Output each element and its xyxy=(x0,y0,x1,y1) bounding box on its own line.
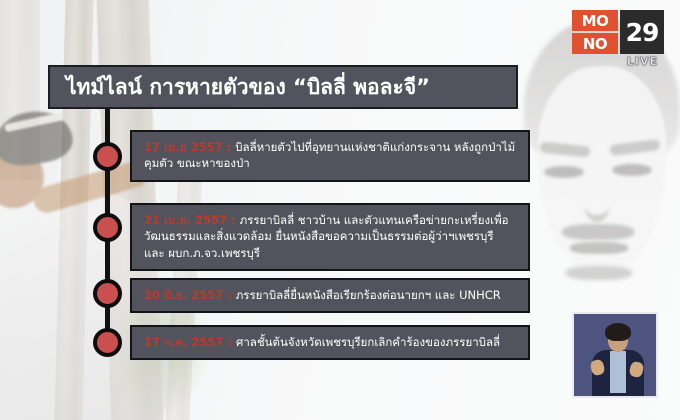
logo-number-block: 29 xyxy=(620,10,664,54)
live-badge: LIVE xyxy=(627,55,658,68)
logo-text-mo: MO xyxy=(582,12,609,30)
portrait-chin xyxy=(566,266,632,280)
timeline-entry-separator: : xyxy=(223,335,236,349)
timeline-node-1 xyxy=(93,142,122,171)
logo-text-no: NO xyxy=(583,35,607,53)
timeline-entry-date: 21 เม.ย. 2557 xyxy=(144,213,227,227)
timeline-entry-date: 17 เม.ย 2557 xyxy=(144,140,223,154)
timeline-entry-date: 20 มิ.ย. 2557 xyxy=(144,288,223,302)
timeline-entry-text: ภรรยาบิลลี่ยื่นหนังสือเรียกร้องต่อนายกฯ … xyxy=(236,288,501,302)
page-title-text: ไทม์ไลน์ การหายตัวของ “บิลลี่ พอละจี” xyxy=(66,77,430,98)
timeline-entry: 17 ก.ค. 2557 : ศาลชั้นต้นจังหวัดเพชรบุรี… xyxy=(130,325,530,360)
logo-left-block: MO NO xyxy=(572,10,618,54)
portrait-eye xyxy=(544,166,584,178)
timeline-entry-text: ศาลชั้นต้นจังหวัดเพชรบุรียกเลิกคำร้องของ… xyxy=(236,335,500,349)
timeline-entry-separator: : xyxy=(223,288,236,302)
timeline-node-4 xyxy=(93,328,122,357)
logo-number: 29 xyxy=(626,18,659,47)
portrait-lips xyxy=(570,242,628,254)
timeline-node-2 xyxy=(93,213,122,242)
portrait-nose xyxy=(584,186,610,222)
page-title: ไทม์ไลน์ การหายตัวของ “บิลลี่ พอละจี” xyxy=(48,65,518,109)
timeline-entry: 17 เม.ย 2557 : บิลลี่หายตัวไปที่อุทยานแห… xyxy=(130,130,530,182)
timeline-node-3 xyxy=(93,279,122,308)
timeline-entry-date: 17 ก.ค. 2557 xyxy=(144,335,223,349)
interpreter-shirt xyxy=(610,351,626,393)
portrait-moustache xyxy=(562,224,634,240)
portrait-eye xyxy=(612,164,652,176)
logo-cell-no: NO xyxy=(572,33,618,54)
timeline-entry: 20 มิ.ย. 2557 : ภรรยาบิลลี่ยื่นหนังสือเร… xyxy=(130,278,530,313)
mono29-logo: MO NO 29 xyxy=(572,10,664,54)
logo-cell-mo: MO xyxy=(572,10,618,31)
sign-language-interpreter xyxy=(572,312,658,398)
timeline-entry: 21 เม.ย. 2557 : ภรรยาบิลลี่ ชาวบ้าน และต… xyxy=(130,203,530,271)
broadcast-screen: MO NO 29 LIVE ไทม์ไลน์ การหายตัวของ “บิล… xyxy=(0,0,680,420)
interpreter-hair xyxy=(605,323,631,341)
timeline-entry-separator: : xyxy=(223,140,236,154)
timeline-entry-separator: : xyxy=(227,213,240,227)
